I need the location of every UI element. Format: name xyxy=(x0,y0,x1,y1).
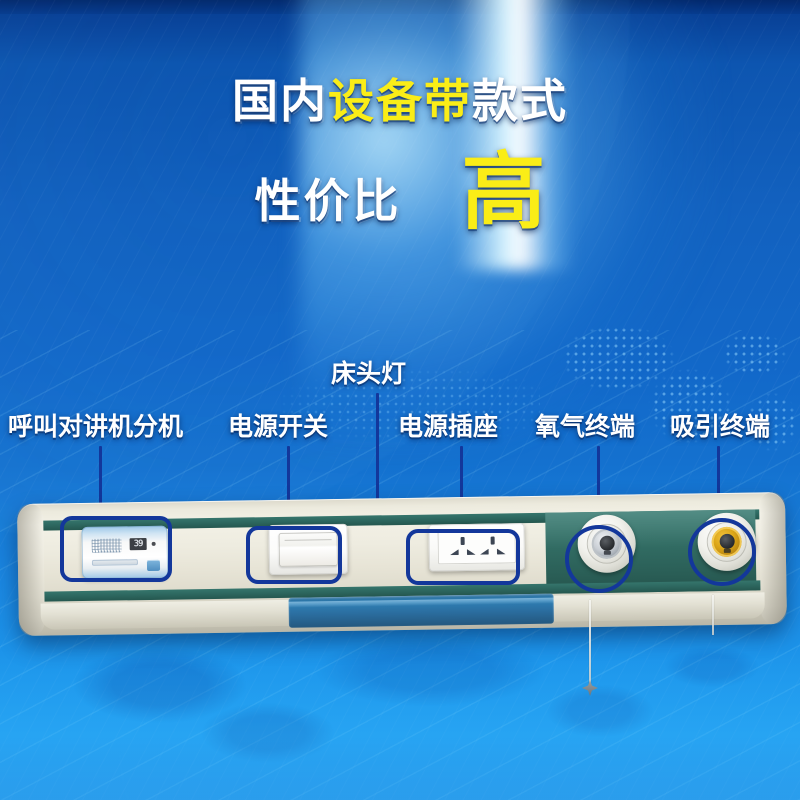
highlight-circle-oxygen xyxy=(565,525,633,593)
promo-banner: 国内设备带款式 性价比 高 呼叫对讲机分机 电源开关 床头灯 电源插座 氧气终端… xyxy=(0,0,800,800)
callout-intercom-label: 呼叫对讲机分机 xyxy=(8,415,183,440)
oxygen-pull-cord[interactable] xyxy=(589,600,591,686)
panel-lower-rail-reflective xyxy=(289,594,554,628)
suction-pull-cord[interactable] xyxy=(712,595,714,635)
highlight-box-intercom xyxy=(60,516,172,582)
highlight-box-power-switch xyxy=(246,526,342,584)
callout-suction-label: 吸引终端 xyxy=(670,415,770,440)
callout-power-socket-label: 电源插座 xyxy=(398,415,498,440)
highlight-box-power-socket xyxy=(406,529,520,585)
callout-power-switch-label: 电源开关 xyxy=(228,415,328,440)
callout-bed-lamp-label: 床头灯 xyxy=(331,362,406,387)
callout-oxygen-label: 氧气终端 xyxy=(535,415,635,440)
callout-layer: 呼叫对讲机分机 电源开关 床头灯 电源插座 氧气终端 吸引终端 xyxy=(0,0,800,800)
highlight-circle-suction xyxy=(688,518,756,586)
